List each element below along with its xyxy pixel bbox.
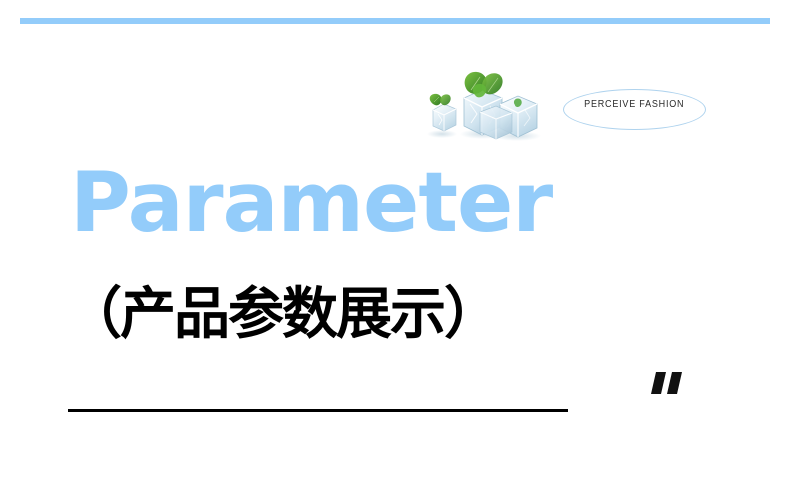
bottom-divider-rule <box>68 409 568 412</box>
perceive-fashion-badge: PERCEIVE FASHION <box>563 89 706 130</box>
page-title-chinese: （产品参数展示） <box>66 279 498 351</box>
slide-canvas: PERCEIVE FASHION Parameter （产品参数展示） <box>0 0 790 483</box>
top-accent-bar <box>20 18 770 24</box>
page-title-english: Parameter <box>70 158 552 248</box>
badge-label-text: PERCEIVE FASHION <box>584 98 684 110</box>
ice-cubes-mint-illustration <box>420 68 545 150</box>
closing-quote-icon <box>650 368 690 404</box>
badge-label: PERCEIVE FASHION <box>563 104 706 116</box>
